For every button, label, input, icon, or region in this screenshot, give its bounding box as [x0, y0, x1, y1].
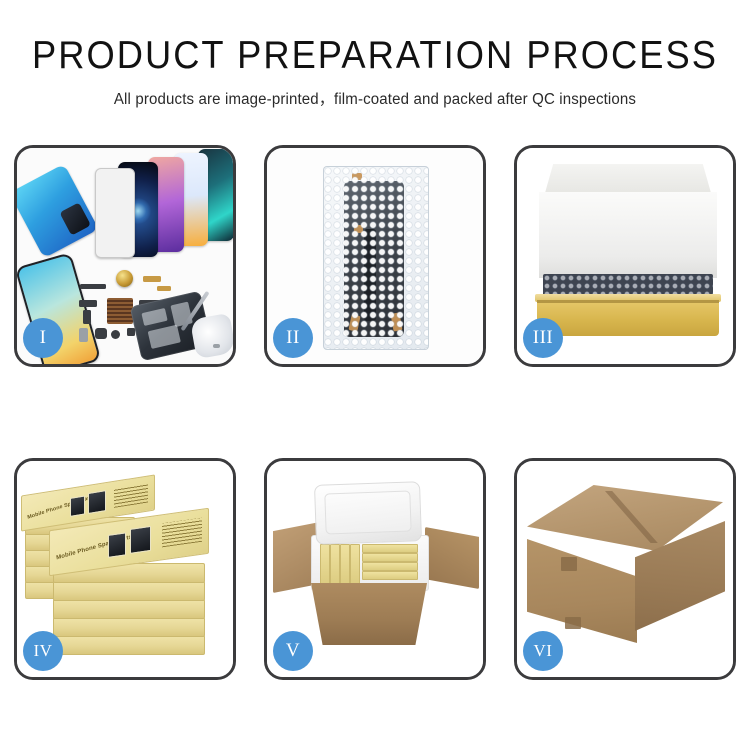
box-thumb-back-2	[88, 490, 106, 514]
inner-box-7	[362, 562, 418, 571]
step-badge-6: VI	[523, 631, 563, 671]
foam-lid-graphic	[314, 481, 422, 545]
inner-box-5	[362, 544, 418, 553]
part-flex2-graphic	[83, 310, 91, 324]
box-thumb-front-2	[130, 526, 151, 554]
glass-screen-graphic	[95, 168, 135, 258]
inner-box-6	[362, 553, 418, 562]
part-sim-tray-graphic	[79, 328, 88, 342]
bubble-texture-graphic	[324, 167, 428, 349]
process-step-6[interactable]: VI	[514, 458, 736, 680]
page-title: PRODUCT PREPARATION PROCESS	[26, 36, 724, 77]
bubble-bag-graphic	[323, 166, 429, 350]
part-flex1-graphic	[79, 300, 97, 307]
process-step-2[interactable]: II	[264, 145, 486, 367]
process-step-4[interactable]: Mobile Phone Spare Parts Mobile Phone Sp…	[14, 458, 236, 680]
step-badge-3: III	[523, 318, 563, 358]
chip-array-graphic	[107, 298, 133, 324]
inner-box-2	[330, 544, 340, 584]
box-spec-lines-front	[162, 518, 202, 548]
stack-box-front-4	[53, 617, 205, 637]
speaker-coin-graphic	[116, 270, 133, 287]
inner-box-8	[362, 571, 418, 580]
header: PRODUCT PREPARATION PROCESS All products…	[0, 0, 750, 109]
carton-tape-lower-graphic	[565, 617, 581, 629]
inner-box-3	[340, 544, 350, 584]
step-badge-1: I	[23, 318, 63, 358]
box-spec-lines-back	[114, 482, 148, 507]
stack-box-front-3	[53, 599, 205, 619]
step-badge-2: II	[273, 318, 313, 358]
part-connector2-graphic	[157, 286, 171, 291]
part-strip-graphic	[80, 284, 106, 289]
box-inner-wall-graphic	[539, 192, 717, 278]
step-badge-4: IV	[23, 631, 63, 671]
carton-flap-right-graphic	[425, 527, 479, 589]
process-step-3[interactable]: III	[514, 145, 736, 367]
carton-tape-upper-graphic	[561, 557, 577, 571]
part-button-graphic	[111, 330, 120, 339]
process-step-5[interactable]: V	[264, 458, 486, 680]
carton-body-graphic	[311, 583, 427, 645]
stack-box-front-2	[53, 581, 205, 601]
inner-box-4	[350, 544, 360, 584]
inner-box-1	[320, 544, 330, 584]
part-camera-graphic	[95, 328, 107, 339]
box-front-graphic	[537, 300, 719, 336]
box-thumb-front-1	[108, 532, 126, 558]
part-connector-graphic	[143, 276, 161, 282]
step-badge-5: V	[273, 631, 313, 671]
process-grid: I II III	[14, 145, 736, 680]
process-step-1[interactable]: I	[14, 145, 236, 367]
hand-graphic	[190, 313, 233, 359]
screw-graphic	[213, 344, 220, 348]
page-subtitle: All products are image-printed，film-coat…	[11, 87, 739, 109]
box-thumb-back-1	[70, 495, 85, 516]
stack-box-front-5	[53, 635, 205, 655]
